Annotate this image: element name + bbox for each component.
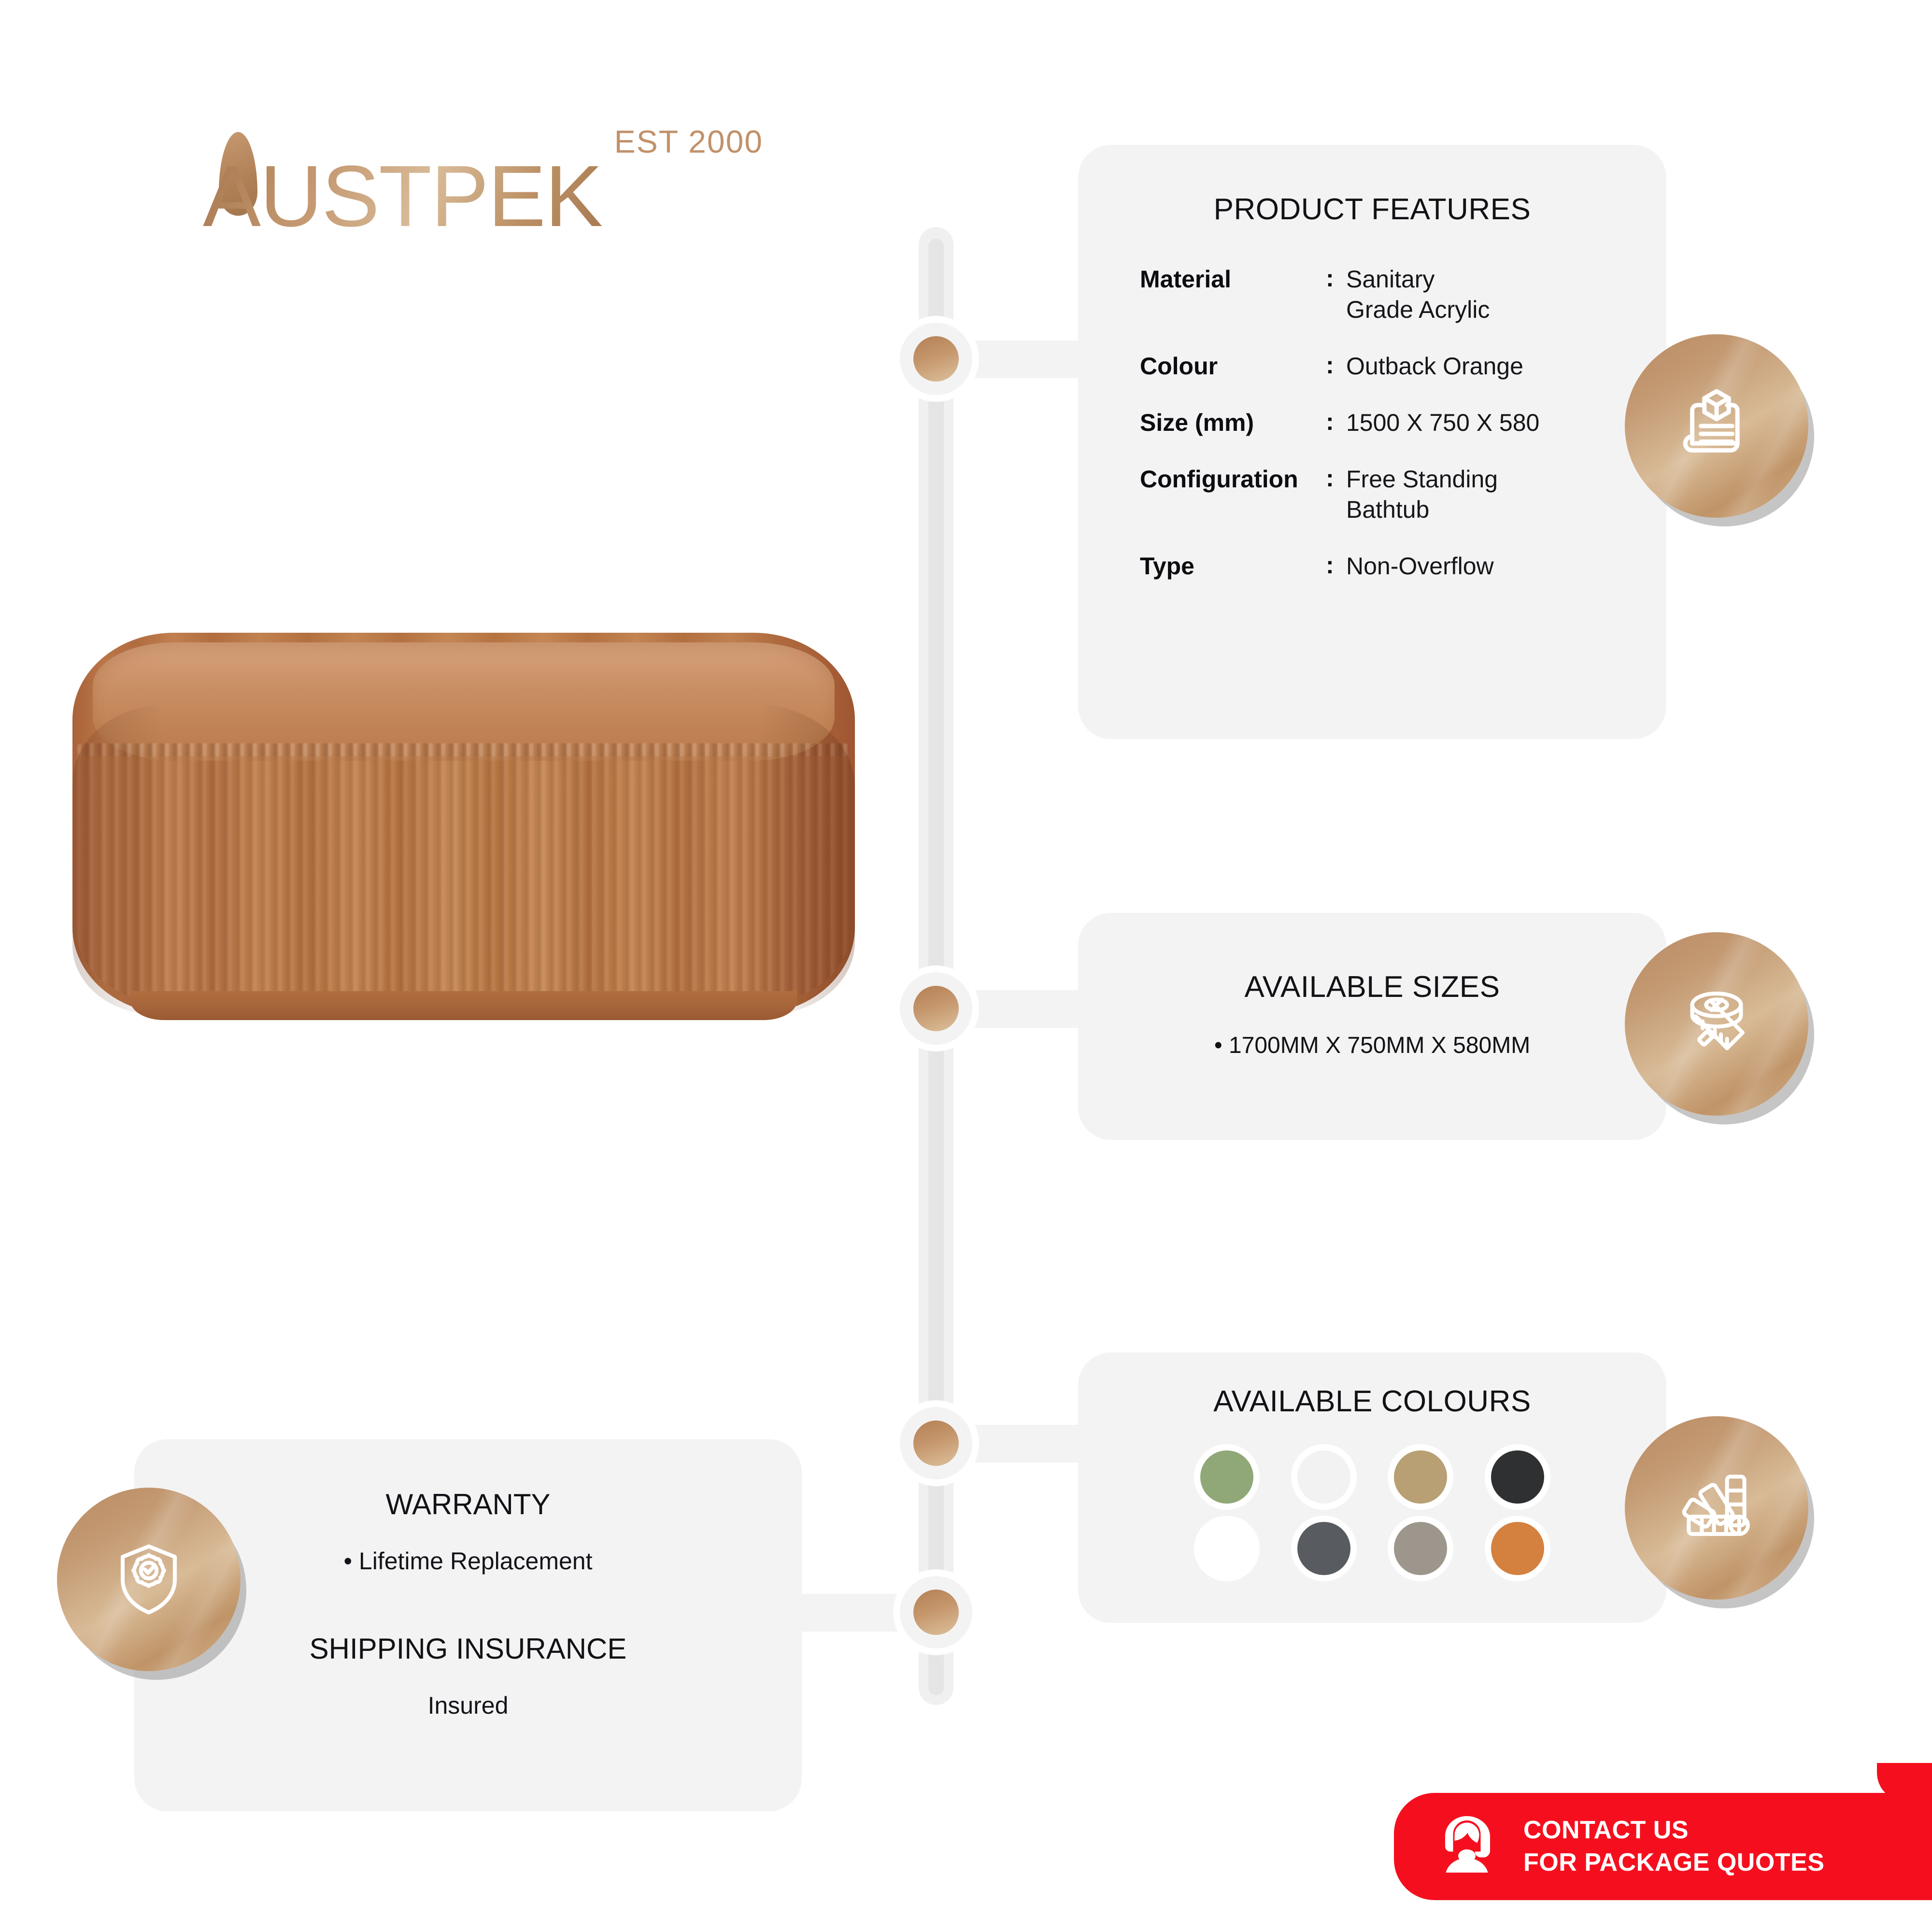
rail-node-dot bbox=[913, 336, 959, 382]
rail-node-dot bbox=[913, 986, 959, 1031]
bathtub-fluted-texture bbox=[77, 744, 850, 1005]
colour-swatch-grid bbox=[1189, 1450, 1556, 1575]
spec-row-configuration: Configuration : Free Standing Bathtub bbox=[1140, 464, 1628, 525]
available-sizes-card: AVAILABLE SIZES 1700MM X 750MM X 580MM bbox=[1078, 913, 1666, 1140]
spec-label: Material bbox=[1140, 264, 1326, 325]
available-colours-card: AVAILABLE COLOURS bbox=[1078, 1352, 1666, 1623]
contact-line-1: CONTACT US bbox=[1523, 1814, 1824, 1847]
spec-colon: : bbox=[1326, 408, 1346, 438]
clipboard-box-icon bbox=[1625, 334, 1808, 518]
spec-value: Non-Overflow bbox=[1346, 551, 1494, 582]
shipping-insurance-title: SHIPPING INSURANCE bbox=[134, 1632, 802, 1665]
spec-colon: : bbox=[1326, 551, 1346, 582]
brand-logo: EST 2000 AUSTPEK bbox=[203, 123, 773, 244]
rail-node-colours bbox=[900, 1407, 972, 1479]
rail-node-warranty bbox=[900, 1576, 972, 1648]
rail-node-features bbox=[900, 323, 972, 395]
list-item: 1700MM X 750MM X 580MM bbox=[1078, 1032, 1666, 1059]
warranty-shipping-card: WARRANTY Lifetime Replacement SHIPPING I… bbox=[134, 1439, 802, 1811]
colour-swatch-pure-white[interactable] bbox=[1200, 1522, 1253, 1575]
rail-node-dot bbox=[913, 1421, 959, 1466]
spec-value: Sanitary Grade Acrylic bbox=[1346, 264, 1490, 325]
spec-label: Size (mm) bbox=[1140, 408, 1326, 438]
product-features-title: PRODUCT FEATURES bbox=[1078, 192, 1666, 227]
spec-colon: : bbox=[1326, 351, 1346, 382]
product-features-spec-table: Material : Sanitary Grade Acrylic Colour… bbox=[1140, 264, 1628, 582]
spec-label: Colour bbox=[1140, 351, 1326, 382]
product-image-bathtub bbox=[72, 633, 855, 1034]
colour-swatch-matte-black[interactable] bbox=[1491, 1450, 1544, 1504]
available-sizes-title: AVAILABLE SIZES bbox=[1078, 970, 1666, 1004]
spec-colon: : bbox=[1326, 264, 1346, 325]
spec-value: 1500 X 750 X 580 bbox=[1346, 408, 1539, 438]
product-features-card: PRODUCT FEATURES Material : Sanitary Gra… bbox=[1078, 145, 1666, 739]
spec-colon: : bbox=[1326, 464, 1346, 525]
shield-badge-icon bbox=[57, 1488, 241, 1671]
colour-swatch-outback-orange[interactable] bbox=[1491, 1522, 1544, 1575]
contact-us-banner[interactable]: CONTACT US FOR PACKAGE QUOTES bbox=[1394, 1793, 1932, 1900]
bathtub-base bbox=[130, 991, 797, 1020]
spec-label: Configuration bbox=[1140, 464, 1326, 525]
spec-value: Free Standing Bathtub bbox=[1346, 464, 1498, 525]
rail-node-sizes bbox=[900, 972, 972, 1045]
spec-row-size: Size (mm) : 1500 X 750 X 580 bbox=[1140, 408, 1628, 438]
available-colours-title: AVAILABLE COLOURS bbox=[1078, 1384, 1666, 1419]
colour-swatch-khaki-tan[interactable] bbox=[1394, 1450, 1447, 1504]
brand-name: AUSTPEK bbox=[203, 153, 602, 240]
spec-value: Outback Orange bbox=[1346, 351, 1523, 382]
spec-row-colour: Colour : Outback Orange bbox=[1140, 351, 1628, 382]
contact-line-2: FOR PACKAGE QUOTES bbox=[1523, 1847, 1824, 1879]
headset-support-icon bbox=[1431, 1810, 1503, 1883]
spec-label: Type bbox=[1140, 551, 1326, 582]
colour-swatch-sage-green[interactable] bbox=[1200, 1450, 1253, 1504]
warranty-title: WARRANTY bbox=[134, 1488, 802, 1521]
rail-node-dot bbox=[913, 1590, 959, 1635]
established-year: EST 2000 bbox=[614, 123, 763, 160]
colour-swatch-warm-grey[interactable] bbox=[1394, 1522, 1447, 1575]
colour-swatch-fan-icon bbox=[1625, 1416, 1808, 1600]
spec-row-type: Type : Non-Overflow bbox=[1140, 551, 1628, 582]
colour-swatch-gloss-white[interactable] bbox=[1297, 1450, 1350, 1504]
shipping-insurance-value: Insured bbox=[134, 1691, 802, 1719]
colour-swatch-charcoal-grey[interactable] bbox=[1297, 1522, 1350, 1575]
measuring-tape-icon bbox=[1625, 932, 1808, 1116]
spec-row-material: Material : Sanitary Grade Acrylic bbox=[1140, 264, 1628, 325]
contact-us-text: CONTACT US FOR PACKAGE QUOTES bbox=[1523, 1814, 1824, 1878]
available-sizes-list: 1700MM X 750MM X 580MM bbox=[1078, 1032, 1666, 1059]
